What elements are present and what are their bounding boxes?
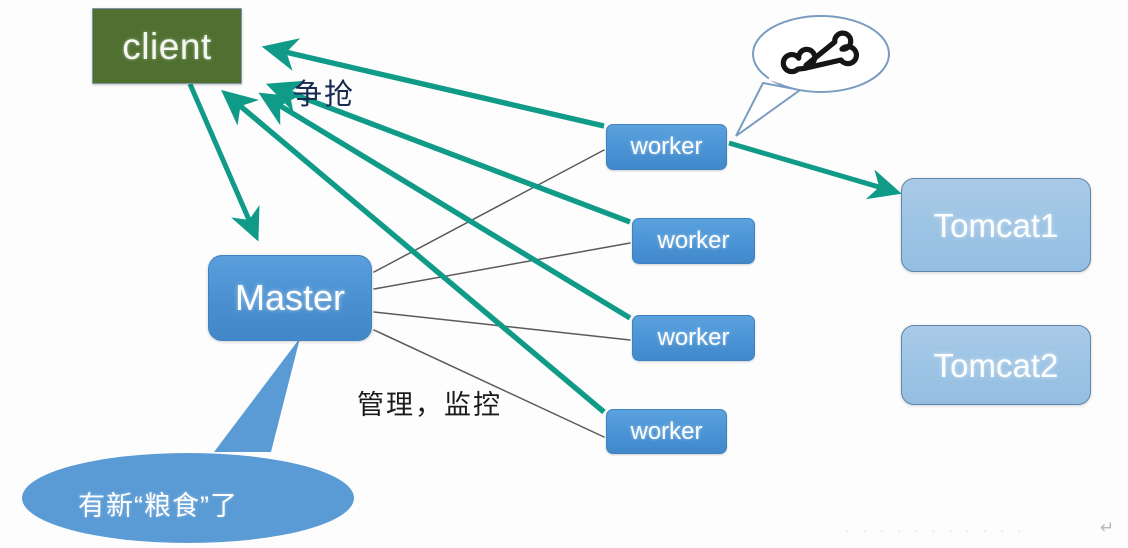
bone-speech-bubble <box>736 16 889 136</box>
arrow-worker-1-to-tomcat1 <box>729 143 896 192</box>
node-client[interactable]: client <box>92 8 242 84</box>
node-worker-2-label: worker <box>657 229 729 253</box>
node-master-label: Master <box>235 280 345 316</box>
node-tomcat1-label: Tomcat1 <box>934 209 1059 242</box>
footer-return-mark: ↵ <box>1100 518 1114 538</box>
node-tomcat2[interactable]: Tomcat2 <box>901 325 1091 405</box>
node-worker-2[interactable]: worker <box>632 218 755 264</box>
node-worker-1-label: worker <box>630 135 702 159</box>
arrow-client-to-master <box>190 84 256 236</box>
footer-ghost-text: · · · · · · · · · · · <box>845 522 1026 539</box>
node-worker-3[interactable]: worker <box>632 315 755 361</box>
label-compete: 争抢 <box>293 81 355 110</box>
label-manage-monitor: 管理，监控 <box>357 392 502 419</box>
node-worker-4[interactable]: worker <box>606 409 727 454</box>
node-master[interactable]: Master <box>208 255 372 341</box>
node-worker-3-label: worker <box>657 326 729 350</box>
node-tomcat2-label: Tomcat2 <box>934 349 1059 382</box>
node-worker-1[interactable]: worker <box>606 124 727 170</box>
node-worker-4-label: worker <box>630 420 702 444</box>
food-callout-label: 有新“粮食”了 <box>78 484 238 523</box>
node-tomcat1[interactable]: Tomcat1 <box>901 178 1091 272</box>
node-client-label: client <box>122 28 211 65</box>
diagram-canvas: client Master worker worker worker worke… <box>0 0 1128 548</box>
